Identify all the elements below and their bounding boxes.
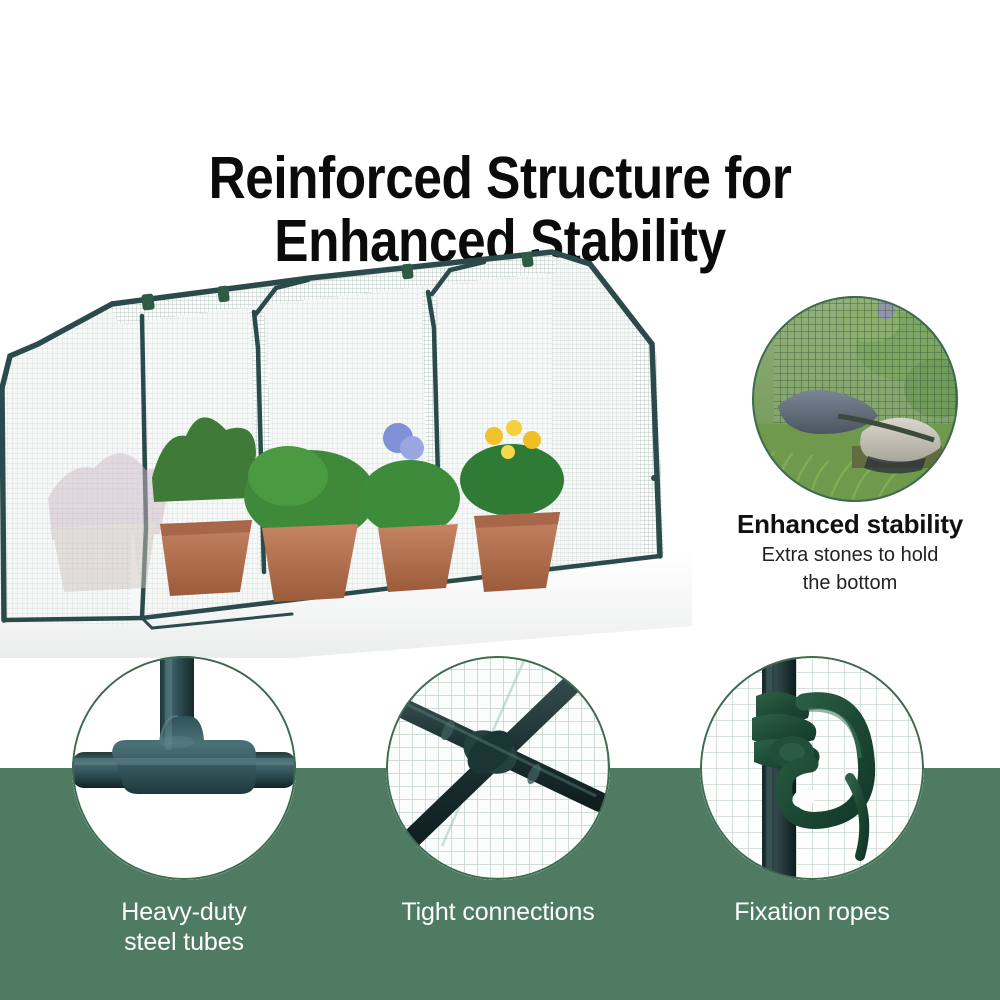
enhanced-stability-subtitle-line-1: Extra stones to hold [700,542,1000,568]
inset-heavy-duty-steel-tubes-image [72,656,296,880]
enhanced-stability-subtitle-line-2: the bottom [700,570,1000,596]
caption-line-1: Tight connections [366,897,630,927]
enhanced-stability-caption: Enhanced stability Extra stones to hold … [700,508,1000,596]
headline-line-1: Reinforced Structure for [209,145,792,211]
caption-tight-connections: Tight connections [366,897,630,927]
caption-line-2: steel tubes [64,927,304,957]
caption-fixation-ropes: Fixation ropes [692,897,932,927]
inset-enhanced-stability-image [752,296,958,502]
greenhouse-hero-image [0,228,692,658]
product-feature-image: Reinforced Structure for Enhanced Stabil… [0,0,1000,1000]
caption-line-1: Fixation ropes [692,897,932,927]
enhanced-stability-title: Enhanced stability [700,508,1000,540]
caption-line-1: Heavy-duty [64,897,304,927]
inset-fixation-ropes-image [700,656,924,880]
caption-heavy-duty-steel-tubes: Heavy-duty steel tubes [64,897,304,957]
inset-tight-connections-image [386,656,610,880]
